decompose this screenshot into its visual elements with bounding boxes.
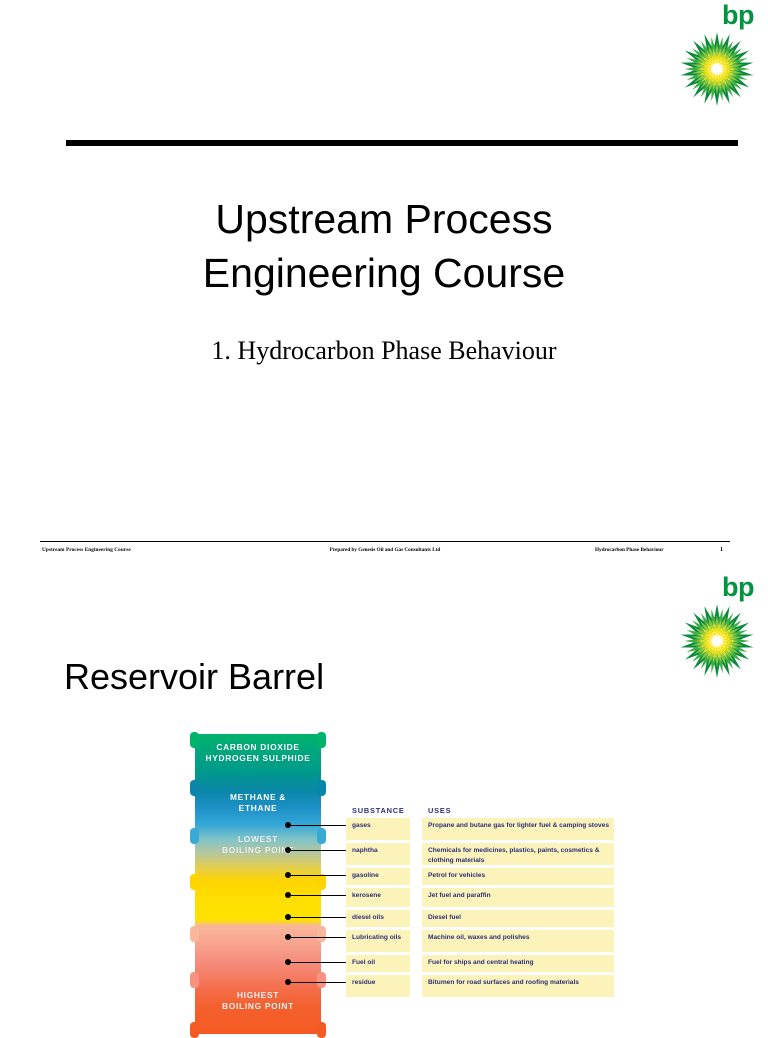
connector-line bbox=[290, 850, 346, 851]
slide-footer: Upstream Process Engineering Course Prep… bbox=[40, 543, 740, 568]
reservoir-barrel-diagram: CARBON DIOXIDEHYDROGEN SULPHIDEMETHANE &… bbox=[190, 734, 326, 1034]
table-row: Petrol for vehicles bbox=[422, 868, 614, 885]
column-header-substance: SUBSTANCE bbox=[352, 806, 405, 815]
table-row: Chemicals for medicines, plastics, paint… bbox=[422, 843, 614, 865]
barrel-label: CARBON DIOXIDEHYDROGEN SULPHIDE bbox=[195, 742, 321, 765]
table-row: gases bbox=[346, 818, 410, 840]
uses-value: Machine oil, waxes and polishes bbox=[428, 933, 614, 943]
footer-right: Hydrocarbon Phase Behaviour bbox=[595, 547, 664, 553]
barrel-hoop bbox=[190, 972, 326, 988]
connector-line bbox=[290, 982, 346, 983]
substance-value: diesel oils bbox=[352, 913, 410, 923]
barrel-label-line: LOWEST bbox=[195, 834, 321, 845]
table-row: residue bbox=[346, 975, 410, 997]
uses-value: Fuel for ships and central heating bbox=[428, 958, 614, 968]
barrel-label-line: BOILING POINT bbox=[195, 1001, 321, 1012]
table-row: gasoline bbox=[346, 868, 410, 885]
substance-value: kerosene bbox=[352, 891, 410, 901]
table-row: Fuel oil bbox=[346, 955, 410, 972]
table-row: Jet fuel and paraffin bbox=[422, 888, 614, 907]
bp-wordmark: bp bbox=[722, 574, 754, 601]
barrel-hoop bbox=[190, 874, 326, 890]
slide-title-page: bp Upstream Process Engineering Course 1… bbox=[0, 0, 768, 568]
table-row: Machine oil, waxes and polishes bbox=[422, 930, 614, 952]
barrel-label-line: METHANE & bbox=[195, 792, 321, 803]
connector-line bbox=[290, 895, 346, 896]
barrel-label: LOWESTBOILING POINT bbox=[195, 834, 321, 857]
connector-line bbox=[290, 937, 346, 938]
bp-helios-icon bbox=[680, 604, 754, 678]
footer-center: Prepared by Genesis Oil and Gas Consulta… bbox=[270, 547, 500, 555]
title-line-2: Engineering Course bbox=[0, 246, 768, 300]
barrel-label: HIGHESTBOILING POINT bbox=[195, 990, 321, 1013]
page-subtitle: 1. Hydrocarbon Phase Behaviour bbox=[0, 336, 768, 366]
substance-value: Lubricating oils bbox=[352, 933, 410, 943]
bp-helios-icon bbox=[680, 32, 754, 106]
connector-line bbox=[290, 825, 346, 826]
substance-value: naphtha bbox=[352, 846, 410, 856]
uses-value: Diesel fuel bbox=[428, 913, 614, 923]
connector-line bbox=[290, 962, 346, 963]
barrel-label-line: HYDROGEN SULPHIDE bbox=[195, 753, 321, 764]
table-row: naphtha bbox=[346, 843, 410, 865]
table-row: kerosene bbox=[346, 888, 410, 907]
barrel-hoop bbox=[190, 926, 326, 942]
slide-heading: Reservoir Barrel bbox=[64, 656, 324, 698]
uses-value: Jet fuel and paraffin bbox=[428, 891, 614, 901]
barrel-hoop bbox=[190, 1022, 326, 1038]
barrel-label: METHANE &ETHANE bbox=[195, 792, 321, 815]
barrel-label-line: HIGHEST bbox=[195, 990, 321, 1001]
table-row: Bitumen for road surfaces and roofing ma… bbox=[422, 975, 614, 997]
barrel-label-line: CARBON DIOXIDE bbox=[195, 742, 321, 753]
connector-line bbox=[290, 875, 346, 876]
uses-value: Bitumen for road surfaces and roofing ma… bbox=[428, 978, 614, 988]
footer-rule bbox=[40, 541, 730, 542]
bp-logo: bp bbox=[676, 2, 760, 110]
footer-page-number: 1 bbox=[720, 547, 723, 553]
table-row: Diesel fuel bbox=[422, 910, 614, 927]
footer-left: Upstream Process Engineering Course bbox=[42, 547, 131, 553]
bp-logo: bp bbox=[676, 574, 760, 682]
uses-value: Petrol for vehicles bbox=[428, 871, 614, 881]
table-row: Propane and butane gas for lighter fuel … bbox=[422, 818, 614, 840]
connector-line bbox=[290, 917, 346, 918]
table-row: Fuel for ships and central heating bbox=[422, 955, 614, 972]
uses-value: Propane and butane gas for lighter fuel … bbox=[428, 821, 614, 831]
column-header-uses: USES bbox=[428, 806, 451, 815]
header-rule bbox=[66, 140, 738, 146]
substance-value: Fuel oil bbox=[352, 958, 410, 968]
table-row: diesel oils bbox=[346, 910, 410, 927]
table-row: Lubricating oils bbox=[346, 930, 410, 952]
barrel-label-line: ETHANE bbox=[195, 803, 321, 814]
page-title: Upstream Process Engineering Course bbox=[0, 192, 768, 300]
substance-value: gasoline bbox=[352, 871, 410, 881]
bp-wordmark: bp bbox=[722, 2, 754, 29]
substance-value: gases bbox=[352, 821, 410, 831]
substance-value: residue bbox=[352, 978, 410, 988]
uses-value: Chemicals for medicines, plastics, paint… bbox=[428, 846, 614, 865]
title-line-1: Upstream Process bbox=[0, 192, 768, 246]
